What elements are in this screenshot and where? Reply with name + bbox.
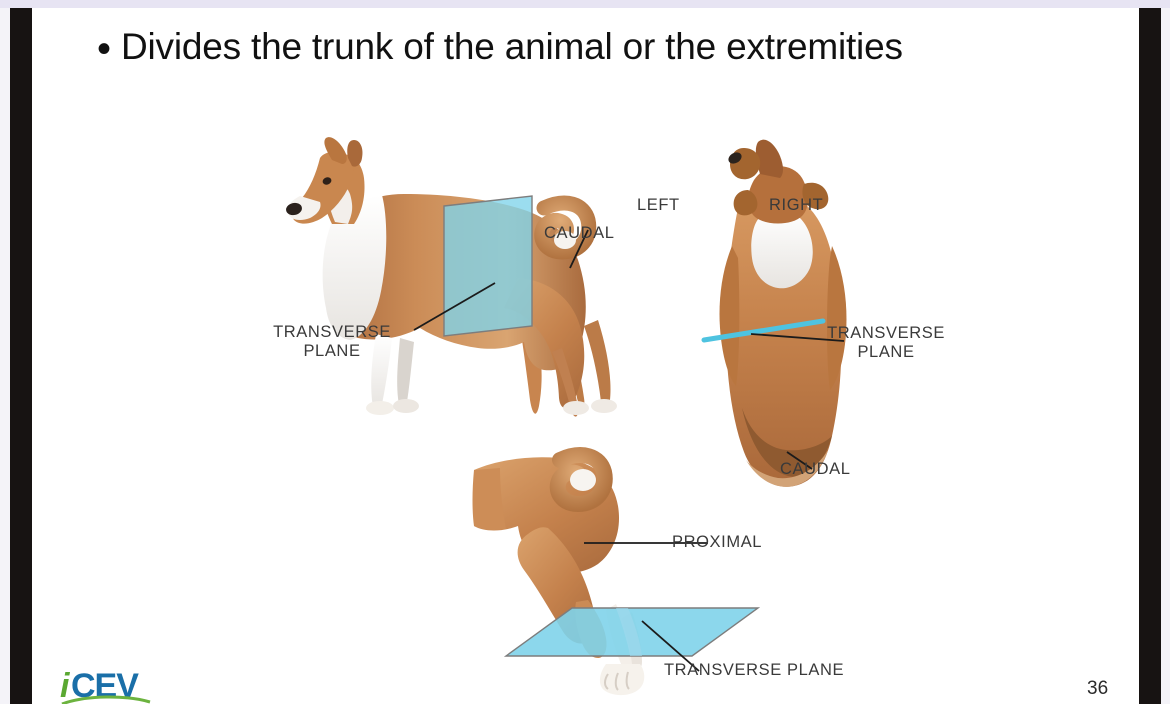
player-edge-right	[1161, 8, 1170, 704]
label-caudal-dorsal: CAUDAL	[780, 460, 851, 479]
player-top-strip	[0, 0, 1170, 8]
label-line-1: TRANSVERSE	[260, 323, 404, 342]
figure-dorsal-dog	[704, 140, 846, 487]
page-number: 36	[1087, 678, 1108, 700]
anatomy-diagram-group: TRANSVERSE PLANE CAUDAL LEFT RIGHT TRANS…	[32, 8, 1139, 704]
label-left: LEFT	[637, 196, 680, 215]
label-right: RIGHT	[769, 196, 823, 215]
slide-canvas: • Divides the trunk of the animal or the…	[32, 8, 1139, 704]
icev-logo-mark: i CEV	[60, 664, 178, 704]
letterbox-bar-left	[10, 8, 32, 704]
figure-limb	[473, 455, 759, 695]
label-proximal: PROXIMAL	[672, 533, 762, 552]
label-line-2: PLANE	[260, 342, 404, 361]
label-line-2: PLANE	[814, 343, 958, 362]
label-transverse-plane-limb: TRANSVERSE PLANE	[664, 661, 844, 680]
icev-logo: i CEV	[60, 664, 178, 704]
slide-viewer: • Divides the trunk of the animal or the…	[0, 0, 1170, 704]
letterbox-bar-right	[1139, 8, 1161, 704]
anatomy-illustrations	[32, 8, 1139, 704]
transverse-plane-shape-lateral	[444, 196, 532, 336]
figure-lateral-dog	[285, 137, 617, 416]
label-transverse-plane-lateral: TRANSVERSE PLANE	[260, 323, 404, 361]
logo-letter-i: i	[60, 667, 71, 704]
player-edge-left	[0, 8, 10, 704]
label-transverse-plane-dorsal: TRANSVERSE PLANE	[814, 324, 958, 362]
label-caudal-lateral: CAUDAL	[544, 224, 615, 243]
label-line-1: TRANSVERSE	[814, 324, 958, 343]
